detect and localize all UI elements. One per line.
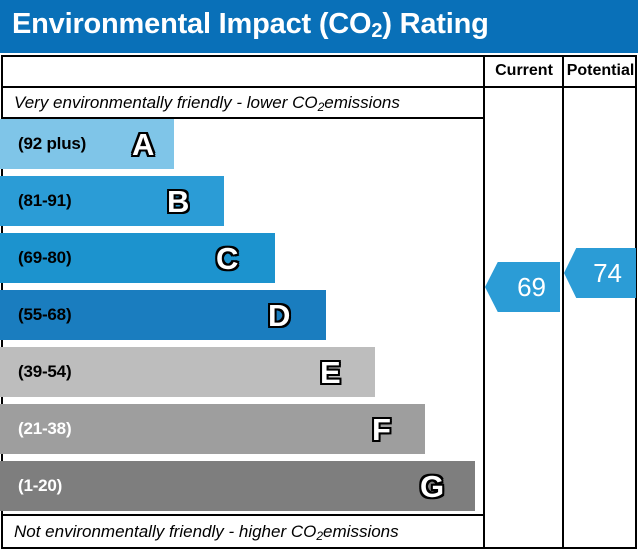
- band-e-range: (39-54): [18, 362, 71, 382]
- band-a-letter: A: [132, 129, 154, 160]
- band-g-range: (1-20): [18, 476, 62, 496]
- rating-band-a: (92 plus) A: [0, 119, 174, 169]
- band-e-letter: E: [320, 357, 341, 388]
- column-divider-potential: [562, 55, 564, 549]
- caption-bottom-suffix: emissions: [323, 522, 399, 542]
- rating-band-e: (39-54) E: [0, 347, 375, 397]
- band-g-letter: G: [420, 471, 444, 502]
- band-b-letter: B: [167, 186, 189, 217]
- environmental-impact-rating-chart: Environmental Impact (CO2) Rating Curren…: [0, 0, 638, 550]
- rating-band-g: (1-20) G: [0, 461, 475, 511]
- band-d-letter: D: [268, 300, 290, 331]
- title-prefix: Environmental Impact (CO: [12, 8, 371, 40]
- band-f-letter: F: [372, 414, 391, 445]
- band-f-range: (21-38): [18, 419, 71, 439]
- caption-bottom: Not environmentally friendly - higher CO…: [0, 517, 483, 546]
- title-banner: Environmental Impact (CO2) Rating: [0, 0, 638, 53]
- rating-band-d: (55-68) D: [0, 290, 326, 340]
- bottom-caption-divider-line: [1, 514, 484, 516]
- caption-top-prefix: Very environmentally friendly - lower CO: [14, 93, 318, 113]
- rating-band-b: (81-91) B: [0, 176, 224, 226]
- caption-top-suffix: emissions: [324, 93, 400, 113]
- current-rating-value: 69: [517, 274, 560, 300]
- rating-bands: (92 plus) A (81-91) B (69-80) C (55-68) …: [0, 119, 483, 514]
- rating-band-c: (69-80) C: [0, 233, 275, 283]
- column-header-potential: Potential: [564, 55, 637, 87]
- band-a-range: (92 plus): [18, 134, 86, 154]
- current-rating-arrow: 69: [485, 262, 560, 312]
- rating-band-f: (21-38) F: [0, 404, 425, 454]
- title-subscript: 2: [371, 20, 382, 42]
- column-header-current: Current: [485, 55, 563, 87]
- title-suffix: ) Rating: [382, 8, 488, 40]
- caption-bottom-subscript: 2: [316, 529, 323, 543]
- page-title: Environmental Impact (CO2) Rating: [12, 8, 489, 41]
- band-c-letter: C: [216, 243, 238, 274]
- caption-bottom-prefix: Not environmentally friendly - higher CO: [14, 522, 316, 542]
- potential-rating-arrow: 74: [564, 248, 636, 298]
- band-c-range: (69-80): [18, 248, 71, 268]
- column-header-row: Current Potential: [1, 55, 637, 87]
- caption-top: Very environmentally friendly - lower CO…: [0, 88, 483, 117]
- band-d-range: (55-68): [18, 305, 71, 325]
- potential-rating-value: 74: [593, 260, 636, 286]
- column-divider-current: [483, 55, 485, 549]
- band-b-range: (81-91): [18, 191, 71, 211]
- caption-top-subscript: 2: [318, 100, 325, 114]
